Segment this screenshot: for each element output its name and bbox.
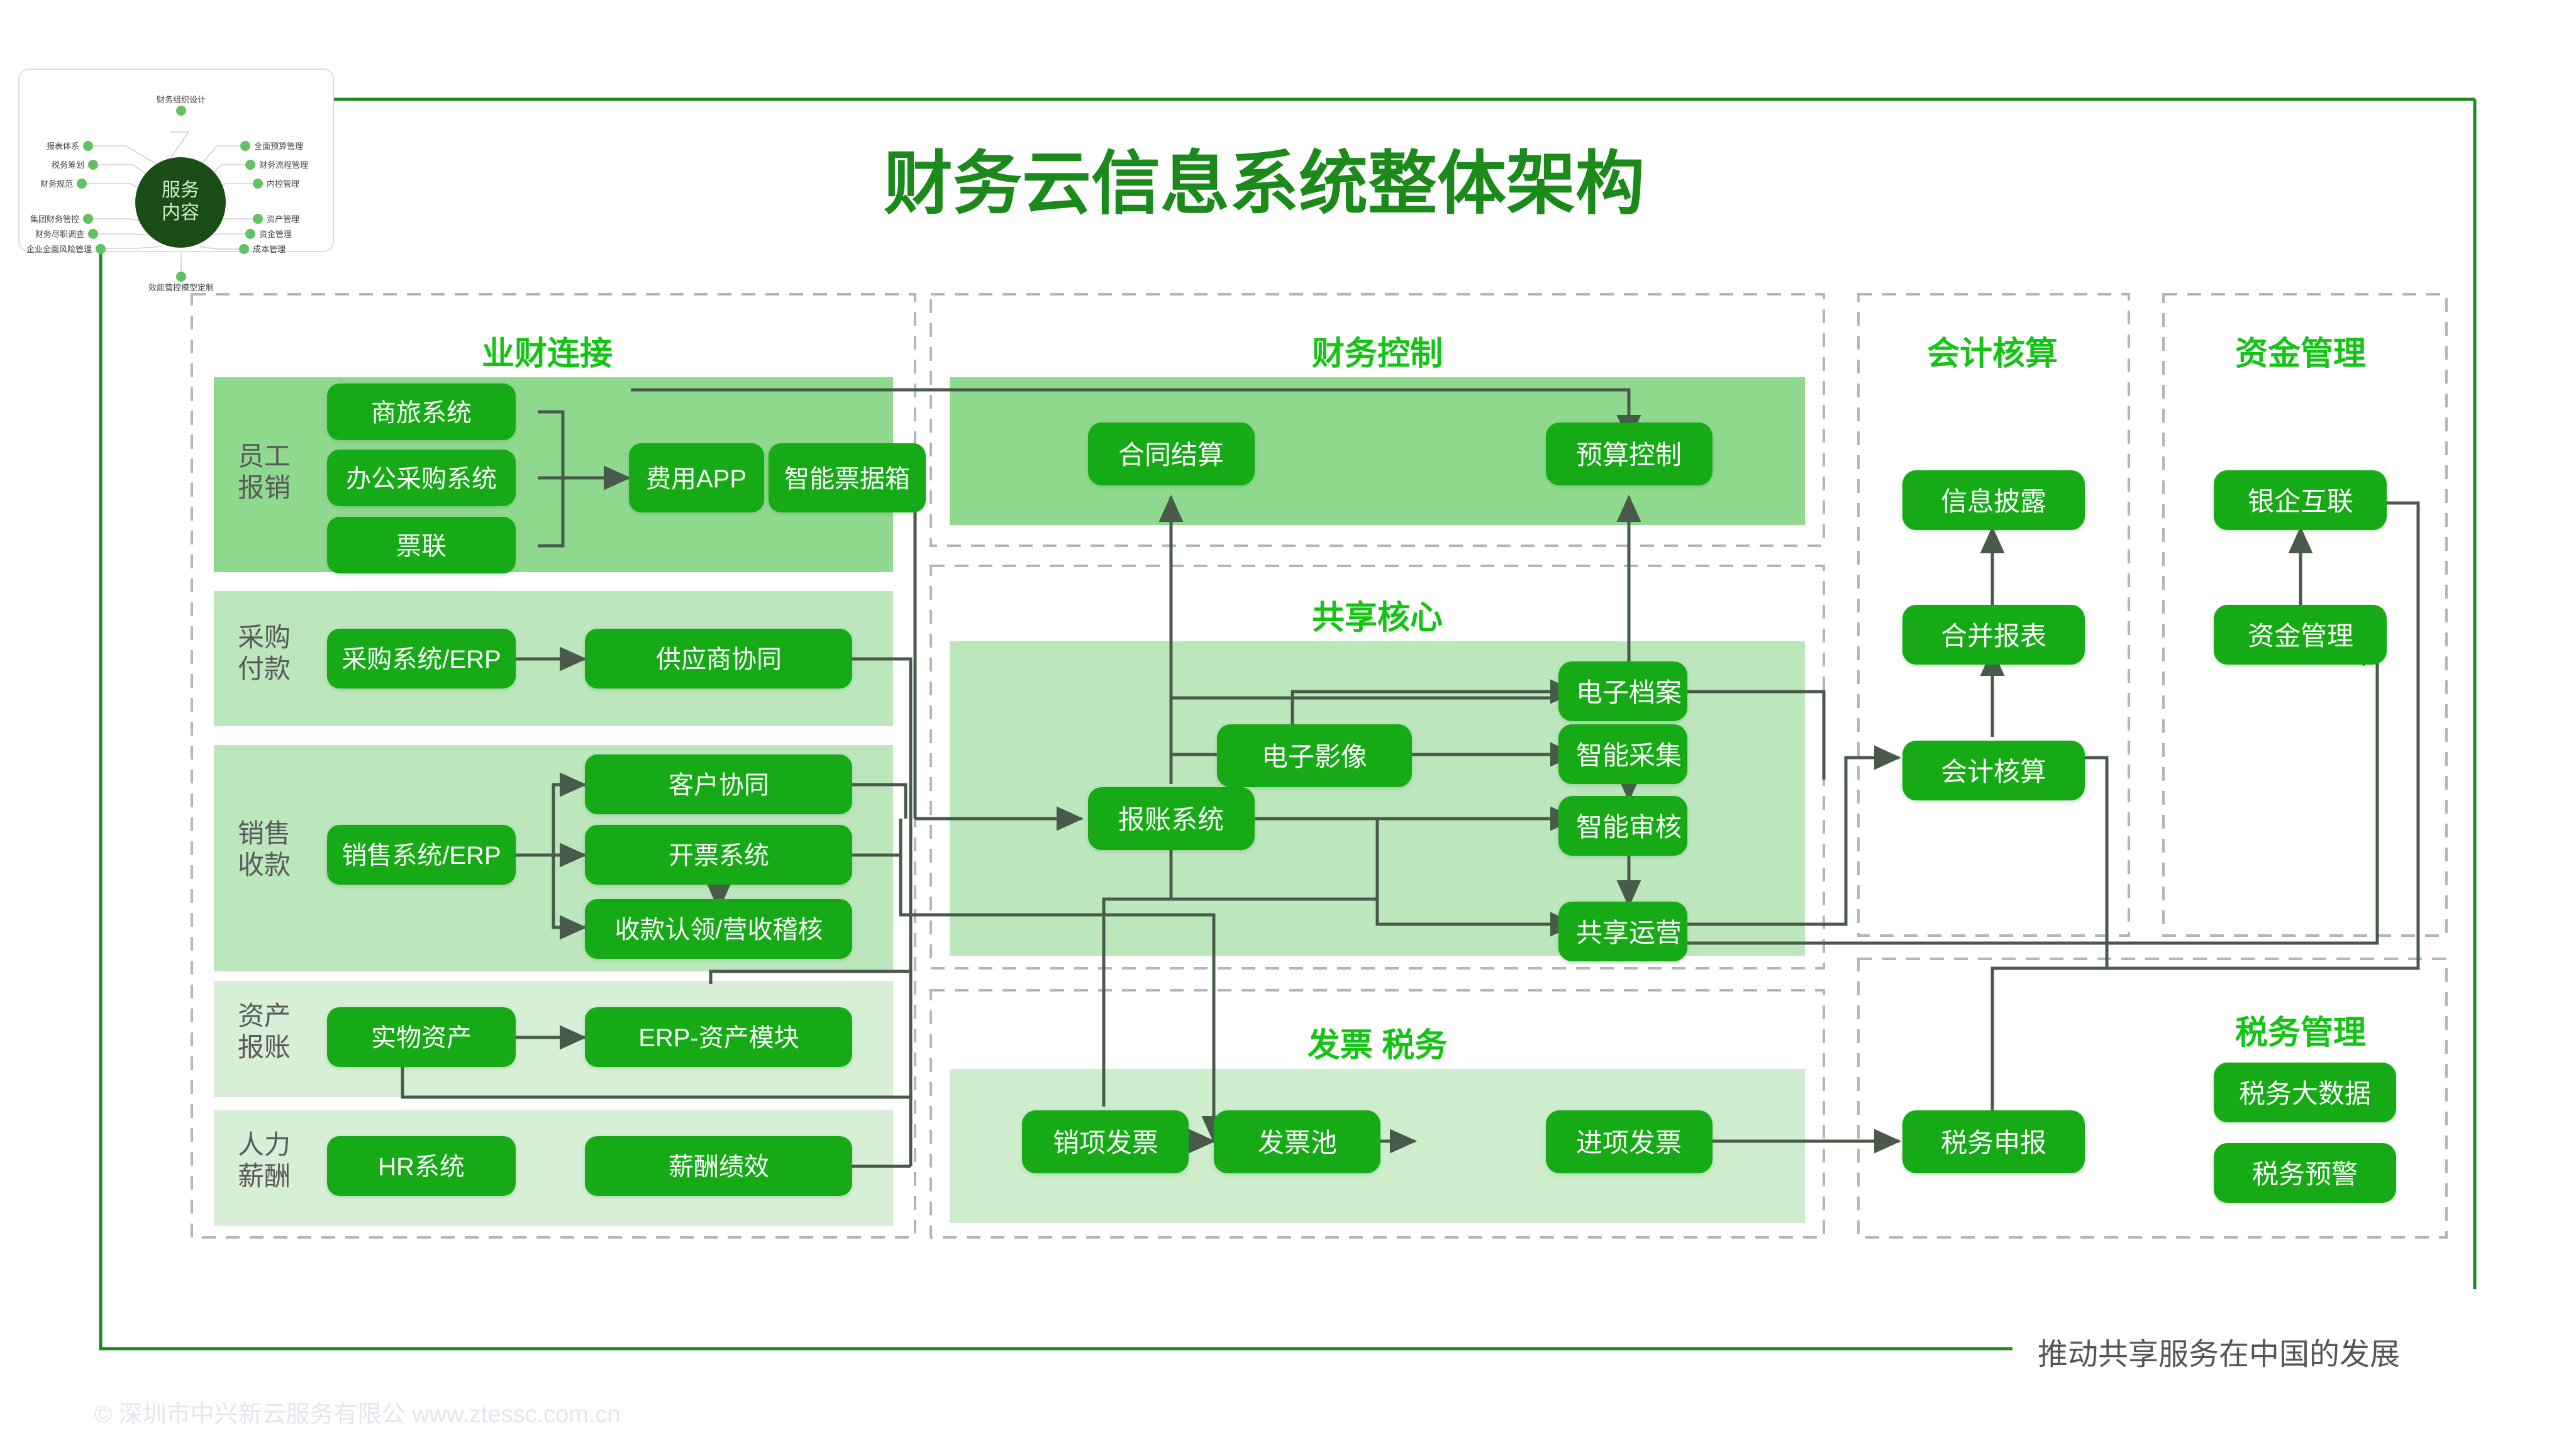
- node-xiaoshouerp-label: 销售系统/ERP: [341, 842, 501, 870]
- logo-label-left-2: 财务规范: [40, 179, 73, 189]
- node-kaipiaoxitong-label: 开票系统: [669, 842, 769, 870]
- node-kuaijihesuan[interactable]: 会计核算: [1902, 741, 2085, 800]
- node-shuiwuyujing[interactable]: 税务预警: [2214, 1143, 2396, 1203]
- row-label-xssk-line2: 收款: [238, 850, 291, 880]
- logo-label-left-1: 税务筹划: [52, 160, 84, 170]
- node-xiaoshouerp[interactable]: 销售系统/ERP: [327, 825, 516, 885]
- node-hebingbaobiao-label: 合并报表: [1941, 621, 2046, 651]
- node-erpzichan[interactable]: ERP-资产模块: [585, 1007, 852, 1067]
- node-shanglv[interactable]: 商旅系统: [327, 384, 516, 440]
- node-piaolian-label: 票联: [396, 533, 447, 560]
- service-content-logo: 服务 内容 财务组织设计 效能管控模型定制 报表体系 税务筹划 财务规范 集团财…: [19, 69, 333, 292]
- row-label-zcbz-line2: 报账: [238, 1032, 291, 1062]
- logo-label-right-3: 资产管理: [267, 214, 299, 224]
- node-kaipiaoxitong[interactable]: 开票系统: [585, 825, 852, 885]
- logo-label-bottom: 效能管控模型定制: [148, 283, 214, 292]
- logo-label-right-4: 资金管理: [259, 229, 292, 239]
- node-zijinguanli[interactable]: 资金管理: [2214, 605, 2387, 665]
- node-xinxipilu[interactable]: 信息披露: [1902, 470, 2085, 530]
- node-dianziyingxiang-label: 电子影像: [1262, 742, 1367, 771]
- node-dianziyingxiang[interactable]: 电子影像: [1217, 724, 1412, 787]
- node-shuiwudashuju-label: 税务大数据: [2239, 1079, 2371, 1108]
- node-hetongjiesuan-label: 合同结算: [1118, 440, 1224, 470]
- node-shiwuzichan[interactable]: 实物资产: [327, 1007, 516, 1067]
- row-label-cgfk-line1: 采购: [238, 622, 291, 652]
- row-label-rlxc-line1: 人力: [238, 1130, 291, 1159]
- node-shoukuanrenling-label: 收款认领/营收稽核: [614, 916, 823, 944]
- row-label-ygbx-line1: 员工: [238, 441, 291, 471]
- logo-label-left-4: 财务尽职调查: [35, 229, 84, 239]
- node-zhinengshenhe[interactable]: 智能审核: [1558, 796, 1687, 856]
- logo-center-line1: 服务: [162, 180, 199, 201]
- node-zhinengshenhe-label: 智能审核: [1576, 812, 1682, 842]
- group-title-zjgl: 资金管理: [2235, 336, 2366, 372]
- node-zhinengpiaojuxiang[interactable]: 智能票据箱: [769, 443, 926, 512]
- node-kehuxietong-label: 客户协同: [669, 771, 769, 799]
- group-title-swgl: 税务管理: [2235, 1015, 2366, 1051]
- node-yusuankongzhi-label: 预算控制: [1576, 440, 1682, 470]
- node-gongyingshangxietong-label: 供应商协同: [656, 646, 782, 673]
- page-title: 财务云信息系统整体架构: [884, 145, 1645, 223]
- node-xinchoujixiao[interactable]: 薪酬绩效: [585, 1136, 852, 1196]
- footer-tagline: 推动共享服务在中国的发展: [2038, 1338, 2400, 1371]
- node-hetongjiesuan[interactable]: 合同结算: [1088, 423, 1255, 485]
- node-jinxiangfapiao[interactable]: 进项发票: [1546, 1110, 1713, 1173]
- row-label-xssk-line1: 销售: [238, 819, 291, 848]
- node-hrxitong-label: HR系统: [378, 1153, 465, 1181]
- node-xiaoxiangfapiao[interactable]: 销项发票: [1022, 1110, 1189, 1173]
- group-title-fpsw: 发票 税务: [1307, 1027, 1447, 1064]
- node-shuiwudashuju[interactable]: 税务大数据: [2214, 1063, 2396, 1122]
- node-fapiaochi-label: 发票池: [1258, 1128, 1337, 1158]
- logo-label-right-1: 财务流程管理: [259, 160, 308, 170]
- node-shuiwuyujing-label: 税务预警: [2252, 1159, 2358, 1189]
- node-baozhangxitong[interactable]: 报账系统: [1088, 787, 1255, 850]
- node-jinxiangfapiao-label: 进项发票: [1576, 1128, 1682, 1158]
- slide-canvas: 服务 内容 财务组织设计 效能管控模型定制 报表体系 税务筹划 财务规范 集团财…: [0, 0, 2576, 1448]
- node-zijinguanli-label: 资金管理: [2248, 621, 2353, 651]
- node-shanglv-label: 商旅系统: [371, 399, 472, 427]
- node-fapiaochi[interactable]: 发票池: [1214, 1110, 1380, 1173]
- node-erpzichan-label: ERP-资产模块: [638, 1024, 799, 1052]
- node-xiaoxiangfapiao-label: 销项发票: [1053, 1128, 1158, 1158]
- node-zhinengpiaojuxiang-label: 智能票据箱: [784, 465, 910, 493]
- logo-label-right-2: 内控管理: [267, 179, 299, 189]
- node-shuiwushenbao-label: 税务申报: [1941, 1128, 2046, 1158]
- logo-label-left-5: 企业全面风险管理: [26, 245, 92, 254]
- node-hebingbaobiao[interactable]: 合并报表: [1902, 605, 2085, 665]
- node-feiyongapp-label: 费用APP: [646, 465, 747, 493]
- node-shuiwushenbao[interactable]: 税务申报: [1902, 1110, 2085, 1173]
- node-dianzidangan[interactable]: 电子档案: [1558, 661, 1687, 721]
- node-caigouerp-label: 采购系统/ERP: [341, 646, 501, 673]
- row-label-zcbz-line1: 资产: [238, 1001, 291, 1031]
- node-bangongcaigou[interactable]: 办公采购系统: [327, 450, 516, 506]
- logo-label-right-0: 全面预算管理: [254, 141, 303, 151]
- group-title-kjhs: 会计核算: [1927, 336, 2058, 372]
- architecture-diagram: 服务 内容 财务组织设计 效能管控模型定制 报表体系 税务筹划 财务规范 集团财…: [0, 0, 2576, 1448]
- node-piaolian[interactable]: 票联: [327, 517, 516, 573]
- node-xinchoujixiao-label: 薪酬绩效: [669, 1153, 769, 1181]
- node-yinqihulian[interactable]: 银企互联: [2214, 470, 2387, 530]
- node-zhinengcaiji[interactable]: 智能采集: [1558, 724, 1687, 784]
- row-label-ygbx-line2: 报销: [238, 473, 291, 502]
- node-feiyongapp[interactable]: 费用APP: [629, 443, 764, 512]
- logo-label-top: 财务组织设计: [157, 95, 206, 104]
- node-baozhangxitong-label: 报账系统: [1118, 805, 1224, 834]
- node-gongxiangyunying-label: 共享运营: [1576, 918, 1682, 948]
- footer-copyright: © 深圳市中兴新云服务有限公 www.ztessc.com.cn: [94, 1401, 621, 1428]
- row-label-rlxc-line2: 薪酬: [238, 1161, 291, 1191]
- node-yusuankongzhi[interactable]: 预算控制: [1546, 423, 1713, 485]
- group-title-gxhx: 共享核心: [1312, 600, 1443, 636]
- node-caigouerp[interactable]: 采购系统/ERP: [327, 629, 516, 688]
- row-label-cgfk-line2: 付款: [238, 654, 291, 683]
- node-bangongcaigou-label: 办公采购系统: [346, 465, 497, 493]
- node-xinxipilu-label: 信息披露: [1941, 487, 2046, 516]
- node-gongyingshangxietong[interactable]: 供应商协同: [585, 629, 852, 688]
- node-kuaijihesuan-label: 会计核算: [1941, 757, 2046, 787]
- node-shiwuzichan-label: 实物资产: [371, 1024, 472, 1052]
- node-kehuxietong[interactable]: 客户协同: [585, 754, 852, 814]
- group-title-cwkz: 财务控制: [1312, 336, 1443, 372]
- logo-label-right-5: 成本管理: [253, 245, 286, 254]
- logo-label-left-3: 集团财务管控: [30, 214, 79, 224]
- logo-label-left-0: 报表体系: [47, 141, 79, 151]
- node-shoukuanrenling[interactable]: 收款认领/营收稽核: [585, 899, 852, 959]
- node-dianzidangan-label: 电子档案: [1576, 678, 1682, 707]
- node-gongxiangyunying[interactable]: 共享运营: [1558, 902, 1687, 961]
- node-zhinengcaiji-label: 智能采集: [1576, 741, 1682, 770]
- node-yinqihulian-label: 银企互联: [2248, 487, 2353, 516]
- group-title-ycl: 业财连接: [482, 336, 613, 372]
- node-hrxitong[interactable]: HR系统: [327, 1136, 516, 1196]
- logo-center-line2: 内容: [162, 202, 199, 223]
